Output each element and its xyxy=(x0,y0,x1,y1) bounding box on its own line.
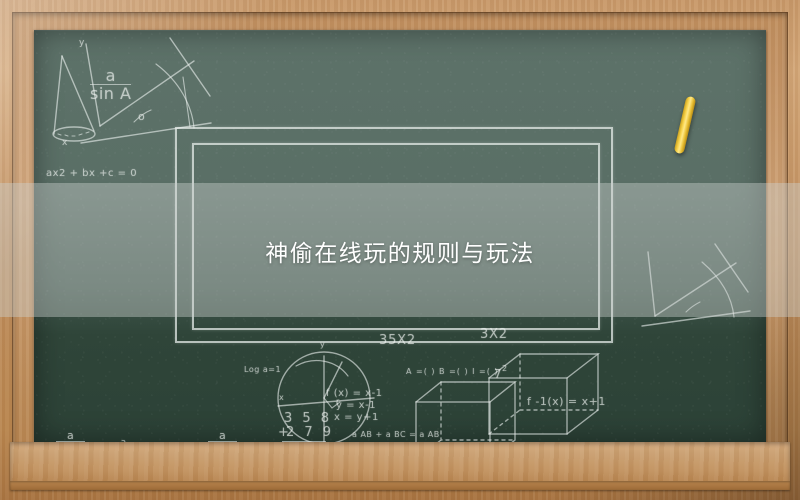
cube-diagram-right xyxy=(489,354,598,434)
function-fx: f (x) = x-1 xyxy=(326,388,383,400)
matrix-notation: A =( ) B =( ) I =( ) xyxy=(406,367,499,376)
addend-one: 3 5 8 xyxy=(284,411,332,426)
radius-label-r: r xyxy=(336,397,340,406)
axis-label-y: y xyxy=(79,38,85,48)
quadratic-equation: ax2 + bx +c = 0 xyxy=(46,168,137,179)
function-x: x = y+1 xyxy=(334,412,379,423)
fraction-a-over-sina-2: a sin A xyxy=(56,430,85,442)
yellow-chalk-on-board xyxy=(674,96,697,155)
axis-label-x: x xyxy=(62,138,68,148)
fraction-a-over-sina: a sin A xyxy=(90,68,131,103)
vector-sum-note: a AB + a BC = a AB xyxy=(352,430,440,439)
axis-label-x-2: x xyxy=(279,393,284,402)
addition-operator: + xyxy=(278,425,289,440)
chalk-tray-lip xyxy=(10,481,790,490)
angle-label-o: o xyxy=(138,110,145,123)
fraction-a-over-sina-3: a sin A xyxy=(208,430,237,442)
page-title: 神偷在线玩的规则与玩法 xyxy=(0,234,800,268)
exponent-base-7: 7 xyxy=(494,367,502,381)
chalkboard-banner: a sin A ax2 + bx +c = 0 y x o f (x) = x-… xyxy=(0,0,800,500)
inverse-function: f -1(x) = x+1 xyxy=(527,395,606,408)
cone-diagram xyxy=(53,56,95,141)
function-y: y = x-1 xyxy=(336,400,376,411)
addend-two: 2 7 9 xyxy=(286,425,334,440)
label-log: Log a=1 xyxy=(244,365,281,374)
circle-axes-diagram xyxy=(278,352,374,442)
exponent-power-2: 2 xyxy=(502,364,508,373)
cube-diagram-center xyxy=(416,382,515,442)
